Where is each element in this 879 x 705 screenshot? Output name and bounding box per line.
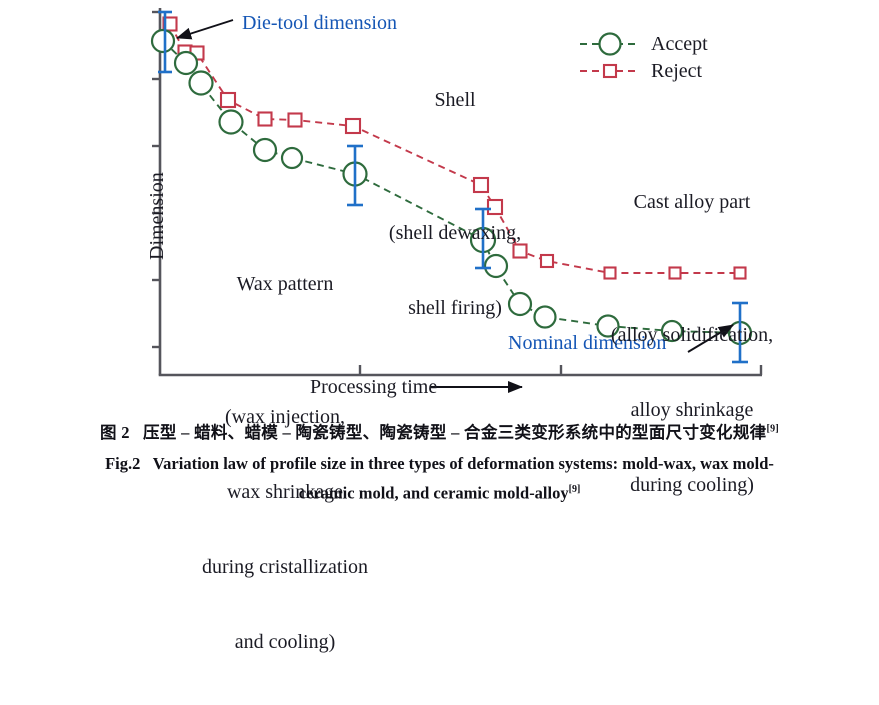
annotation-shell-l1: (shell dewaxing, (350, 221, 560, 246)
annotation-wax-pattern-l3: during cristallization (155, 555, 415, 580)
caption-chinese: 图 2 压型 – 蜡料、蜡模 – 陶瓷铸型、陶瓷铸型 – 合金三类变形系统中的型… (0, 419, 879, 443)
caption-english-label: Fig.2 (105, 454, 140, 473)
legend-item-reject[interactable]: Reject (651, 60, 702, 83)
caption-english-line2: ceramic mold, and ceramic mold-alloy[9] (0, 478, 879, 506)
caption-english-line1: Fig.2 Variation law of profile size in t… (0, 452, 879, 476)
annotation-shell: Shell (shell dewaxing, shell firing) (350, 38, 560, 371)
callout-die-tool-dimension: Die-tool dimension (242, 12, 397, 35)
annotation-shell-l2: shell firing) (350, 296, 560, 321)
annotation-wax-pattern-l4: and cooling) (155, 630, 415, 655)
legend-reject-glyph (580, 65, 640, 77)
caption-chinese-ref: [9] (766, 424, 779, 435)
caption-english-ref: [9] (569, 484, 581, 495)
caption-english-text1: Variation law of profile size in three t… (153, 454, 774, 473)
spacer (552, 265, 832, 273)
figure-container: Accept Reject Die-tool dimension Nominal… (0, 0, 879, 514)
caption-english-text2: ceramic mold, and ceramic mold-alloy (299, 484, 569, 503)
caption-chinese-text: 压型 – 蜡料、蜡模 – 陶瓷铸型、陶瓷铸型 – 合金三类变形系统中的型面尺寸变… (143, 423, 766, 442)
annotation-cast-alloy-l1: (alloy solidification, (552, 323, 832, 348)
annotation-shell-title: Shell (350, 88, 560, 113)
annotation-cast-alloy-title: Cast alloy part (552, 190, 832, 215)
spacer (350, 163, 560, 171)
legend-accept-glyph (580, 34, 640, 55)
legend-item-accept[interactable]: Accept (651, 33, 708, 56)
die-tool-arrow (177, 20, 233, 38)
caption-chinese-label: 图 2 (100, 423, 130, 442)
